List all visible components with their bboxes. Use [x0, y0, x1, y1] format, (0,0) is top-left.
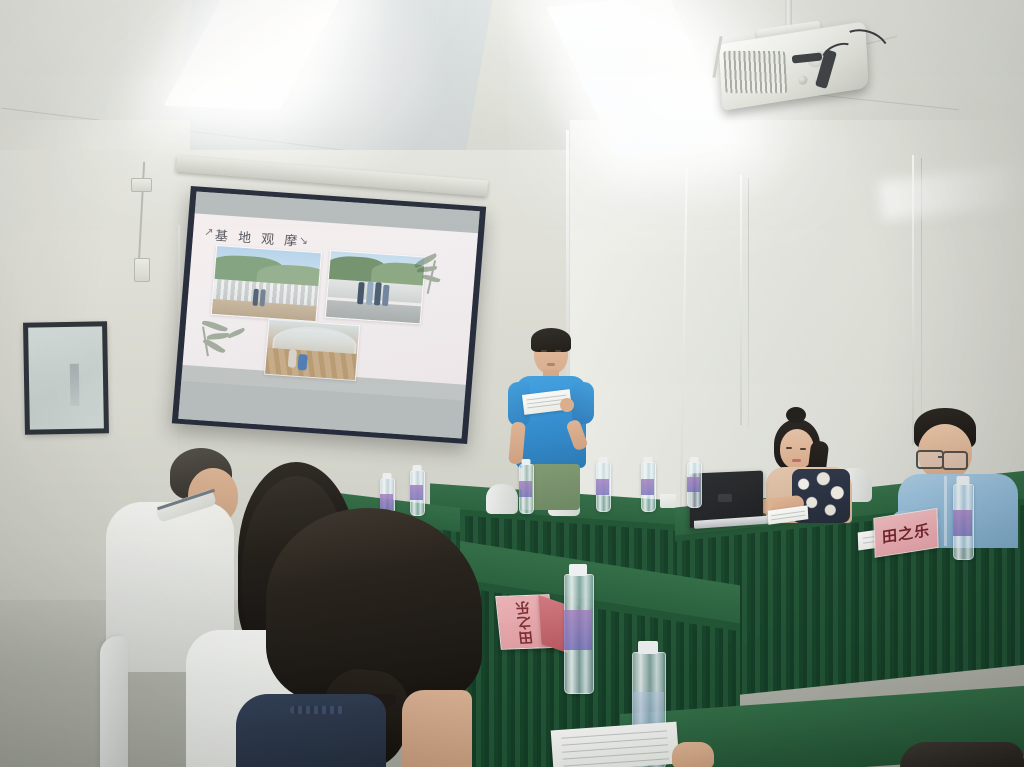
panelist-eye [786, 447, 792, 449]
chair-audience-1 [100, 636, 144, 767]
hand-bottom [672, 742, 714, 767]
wall-seam [748, 178, 749, 428]
wall-switch-box [134, 258, 150, 282]
panelist-hair-bun [786, 407, 806, 423]
glasses-left-lens [916, 450, 944, 469]
slide-photo-group [325, 250, 426, 324]
photo-figure-crouching [298, 354, 308, 371]
shirt-placket [944, 476, 947, 546]
person-partial-bottom-right [900, 742, 1024, 767]
glasses-right-lens [942, 451, 968, 470]
wall-window [23, 321, 109, 434]
water-bottle[interactable] [596, 462, 609, 510]
projection-screen[interactable]: ↗ 基 地 观 摩 ↘ [172, 186, 486, 444]
audience4-neck [402, 690, 472, 767]
audience4-collar-trim [290, 706, 344, 714]
slide-photo-greenhouse [211, 245, 322, 322]
photo-figure [287, 350, 296, 369]
water-bottle[interactable] [641, 462, 654, 510]
panelist-mouth [792, 459, 801, 462]
presenter-hand [560, 398, 574, 412]
projector-vent-grille [723, 51, 787, 93]
window-glass [28, 326, 104, 429]
person-audience-4 [236, 508, 506, 767]
conference-room-photo: ↗ 基 地 观 摩 ↘ [0, 0, 1024, 767]
slide-tick-left: ↗ [204, 225, 214, 239]
namecard-label: 田之乐 [882, 519, 931, 547]
photo-soil-rows [265, 348, 357, 380]
panelist-eye [800, 448, 806, 450]
presenter-mouth [547, 363, 555, 366]
water-bottle[interactable] [687, 462, 700, 506]
slide-tick-right: ↘ [298, 234, 308, 248]
wall-mount-bracket [131, 178, 152, 192]
glasses-bridge [938, 456, 944, 458]
presenter-eye [541, 350, 547, 352]
namecard-label: 田之乐 [513, 599, 538, 644]
water-bottle[interactable] [564, 574, 592, 692]
laptop-logo [718, 494, 732, 502]
document-sheet[interactable] [551, 722, 680, 767]
water-bottle[interactable] [953, 484, 972, 558]
slide-content: ↗ 基 地 观 摩 ↘ [183, 213, 479, 384]
namecard-right[interactable]: 田之乐 [873, 508, 936, 556]
audience4-navy-top [236, 694, 386, 767]
presenter-eye [555, 350, 561, 352]
slide-photo-tunnel [264, 319, 360, 381]
person-presenter [500, 328, 596, 516]
water-bottle[interactable] [519, 464, 532, 512]
wall-seam [740, 175, 742, 425]
window-reflection [70, 364, 80, 406]
presenter-hair [531, 328, 571, 352]
presenter-sleeve-right [572, 382, 594, 424]
small-white-object [660, 494, 676, 508]
screen-surface: ↗ 基 地 观 摩 ↘ [178, 191, 480, 438]
